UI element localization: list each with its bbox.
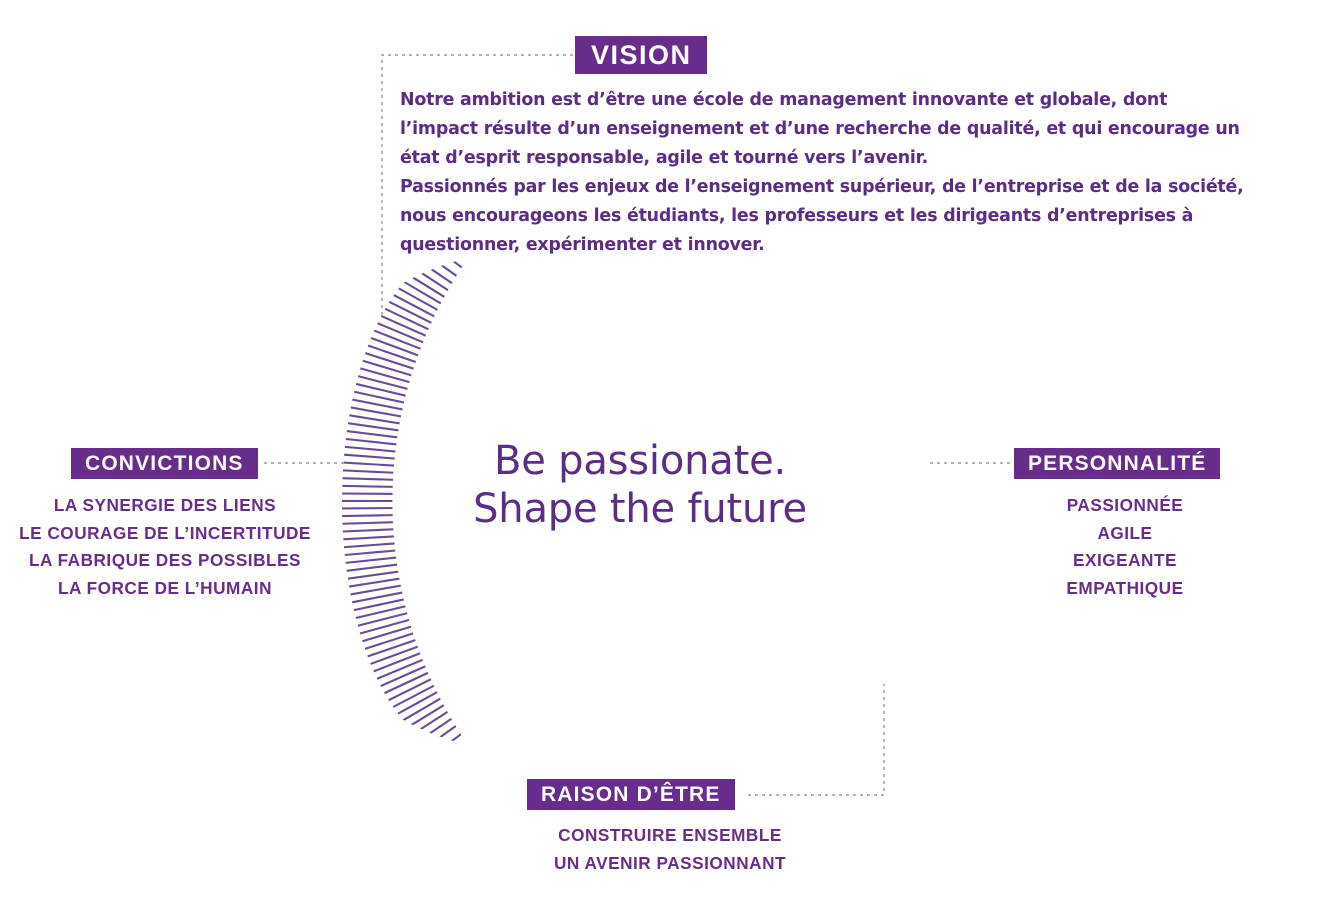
list-item: PASSIONNÉE bbox=[990, 492, 1260, 520]
list-item: UN AVENIR PASSIONNANT bbox=[455, 850, 885, 878]
raison-detre-list: CONSTRUIRE ENSEMBLE UN AVENIR PASSIONNAN… bbox=[455, 822, 885, 877]
list-item: CONSTRUIRE ENSEMBLE bbox=[455, 822, 885, 850]
badge-vision[interactable]: VISION bbox=[575, 36, 707, 74]
vision-paragraph-1: Notre ambition est d’être une école de m… bbox=[400, 86, 1250, 173]
list-item: LA FORCE DE L’HUMAIN bbox=[0, 575, 330, 603]
badge-vision-label: VISION bbox=[591, 40, 691, 71]
badge-personnalite-label: PERSONNALITÉ bbox=[1028, 452, 1206, 476]
badge-convictions-label: CONVICTIONS bbox=[85, 452, 244, 476]
list-item: LA SYNERGIE DES LIENS bbox=[0, 492, 330, 520]
badge-personnalite[interactable]: PERSONNALITÉ bbox=[1014, 448, 1220, 479]
slogan-line-1: Be passionate. bbox=[420, 437, 860, 485]
center-slogan: Be passionate. Shape the future bbox=[420, 437, 860, 533]
connector-raison-detre bbox=[748, 684, 884, 795]
list-item: LA FABRIQUE DES POSSIBLES bbox=[0, 547, 330, 575]
badge-raison-detre[interactable]: RAISON D’ÊTRE bbox=[527, 779, 735, 810]
personnalite-list: PASSIONNÉE AGILE EXIGEANTE EMPATHIQUE bbox=[990, 492, 1260, 602]
list-item: EXIGEANTE bbox=[990, 547, 1260, 575]
list-item: EMPATHIQUE bbox=[990, 575, 1260, 603]
convictions-list: LA SYNERGIE DES LIENS LE COURAGE DE L’IN… bbox=[0, 492, 330, 602]
badge-raison-detre-label: RAISON D’ÊTRE bbox=[541, 783, 721, 807]
list-item: AGILE bbox=[990, 520, 1260, 548]
badge-convictions[interactable]: CONVICTIONS bbox=[71, 448, 258, 479]
vision-text-block: Notre ambition est d’être une école de m… bbox=[400, 86, 1250, 260]
vision-paragraph-2: Passionnés par les enjeux de l’enseignem… bbox=[400, 173, 1250, 260]
list-item: LE COURAGE DE L’INCERTITUDE bbox=[0, 520, 330, 548]
slogan-line-2: Shape the future bbox=[420, 485, 860, 533]
infographic-canvas: VISION Notre ambition est d’être une éco… bbox=[0, 0, 1320, 906]
